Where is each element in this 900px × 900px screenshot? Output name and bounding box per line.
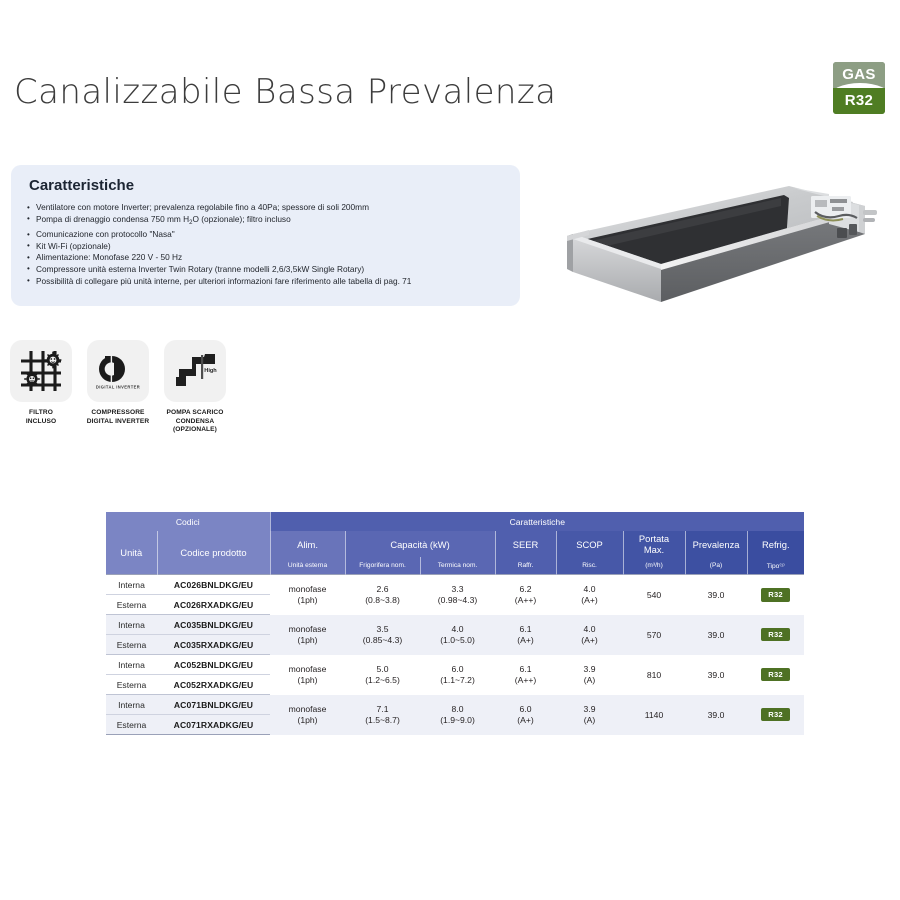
- th-refrig-sub: Tipo⁽¹⁾: [747, 557, 804, 575]
- th-group-codici: Codici: [106, 512, 270, 531]
- svg-text:DIGITAL INVERTER: DIGITAL INVERTER: [96, 385, 140, 390]
- cell-unita-esterna: Esterna: [106, 595, 157, 615]
- features-panel: Caratteristiche Ventilatore con motore I…: [11, 165, 520, 306]
- features-list: Ventilatore con motore Inverter; prevale…: [27, 202, 510, 287]
- cell-codice-interna: AC071BNLDKG/EU: [157, 695, 270, 715]
- h2o-subscript: 2: [189, 220, 192, 226]
- cell-unita-interna: Interna: [106, 695, 157, 715]
- cell-prevalenza: 39.0: [685, 575, 747, 615]
- filter-grid-icon: [10, 340, 72, 402]
- drain-pump-icon: High: [164, 340, 226, 402]
- cell-unita-interna: Interna: [106, 655, 157, 675]
- icon-caption-line: COMPRESSORE: [91, 409, 144, 416]
- feature-icon-pompa: High POMPA SCARICO CONDENSA (OPZIONALE): [164, 340, 232, 435]
- svg-text:High: High: [204, 368, 217, 374]
- gas-r32-badge: GAS R32: [833, 62, 885, 114]
- th-prevalenza-sub: (Pa): [685, 557, 747, 575]
- th-portata-sub: (m³/h): [623, 557, 685, 575]
- feature-icon-compressore: DIGITAL INVERTER COMPRESSORE DIGITAL INV…: [87, 340, 155, 426]
- icon-caption: COMPRESSORE DIGITAL INVERTER: [78, 409, 158, 426]
- cell-codice-esterna: AC052RXADKG/EU: [157, 675, 270, 695]
- th-alim-sub: Unità esterna: [270, 557, 345, 575]
- icon-tile: [10, 340, 72, 402]
- th-portata-line1: Portata: [639, 533, 669, 544]
- th-portata-line2: Max.: [644, 544, 664, 555]
- cell-alim: monofase (1ph): [270, 695, 345, 735]
- cell-frigorifera: 5.0 (1.2~6.5): [345, 655, 420, 695]
- th-unita: Unità: [106, 531, 157, 575]
- icon-caption: POMPA SCARICO CONDENSA (OPZIONALE): [155, 409, 235, 435]
- cell-codice-esterna: AC035RXADKG/EU: [157, 635, 270, 655]
- cell-unita-interna: Interna: [106, 575, 157, 595]
- cell-scop: 4.0 (A+): [556, 575, 623, 615]
- specifications-table: Codici Caratteristiche Unità Codice prod…: [106, 512, 804, 735]
- cell-unita-esterna: Esterna: [106, 715, 157, 735]
- page-title: Canalizzabile Bassa Prevalenza: [14, 72, 556, 112]
- th-capacita: Capacità (kW): [345, 531, 495, 557]
- feature-item: Possibilità di collegare più unità inter…: [27, 276, 510, 288]
- cell-seer: 6.1 (A++): [495, 655, 556, 695]
- cell-refrig: R32: [747, 695, 804, 735]
- cell-codice-interna: AC035BNLDKG/EU: [157, 615, 270, 635]
- table-header-group-row: Codici Caratteristiche: [106, 512, 804, 531]
- cell-frigorifera: 2.6 (0.8~3.8): [345, 575, 420, 615]
- th-codice-prodotto: Codice prodotto: [157, 531, 270, 575]
- cell-termica: 8.0 (1.9~9.0): [420, 695, 495, 735]
- th-scop: SCOP: [556, 531, 623, 557]
- digital-inverter-icon: DIGITAL INVERTER: [87, 340, 149, 402]
- icon-caption-line: INCLUSO: [26, 418, 56, 425]
- th-frigorifera-sub: Frigorifera nom.: [345, 557, 420, 575]
- icon-caption-line: DIGITAL INVERTER: [87, 418, 150, 425]
- th-scop-sub: Risc.: [556, 557, 623, 575]
- cell-alim: monofase (1ph): [270, 655, 345, 695]
- th-prevalenza: Prevalenza: [685, 531, 747, 557]
- cell-codice-interna: AC052BNLDKG/EU: [157, 655, 270, 675]
- cell-unita-interna: Interna: [106, 615, 157, 635]
- cell-codice-esterna: AC071RXADKG/EU: [157, 715, 270, 735]
- cell-prevalenza: 39.0: [685, 615, 747, 655]
- cell-codice-esterna: AC026RXADKG/EU: [157, 595, 270, 615]
- cell-seer: 6.0 (A+): [495, 695, 556, 735]
- cell-seer: 6.2 (A++): [495, 575, 556, 615]
- cell-unita-esterna: Esterna: [106, 675, 157, 695]
- cell-termica: 6.0 (1.1~7.2): [420, 655, 495, 695]
- icon-tile: DIGITAL INVERTER: [87, 340, 149, 402]
- cell-scop: 4.0 (A+): [556, 615, 623, 655]
- feature-icon-filtro: FILTRO INCLUSO: [10, 340, 78, 426]
- feature-item: Pompa di drenaggio condensa 750 mm H2O (…: [27, 214, 510, 230]
- cell-scop: 3.9 (A): [556, 655, 623, 695]
- ducted-unit-illustration: [553, 172, 887, 314]
- th-seer: SEER: [495, 531, 556, 557]
- cell-refrig: R32: [747, 615, 804, 655]
- status-badge-r32: R32: [761, 708, 790, 722]
- th-seer-sub: Raffr.: [495, 557, 556, 575]
- table-row: Interna AC035BNLDKG/EU monofase (1ph) 3.…: [106, 615, 804, 635]
- cell-prevalenza: 39.0: [685, 655, 747, 695]
- cell-portata: 810: [623, 655, 685, 695]
- cell-termica: 4.0 (1.0~5.0): [420, 615, 495, 655]
- icon-caption-line: (OPZIONALE): [173, 426, 217, 433]
- th-group-caratteristiche: Caratteristiche: [270, 512, 804, 531]
- product-photo: [553, 172, 887, 314]
- status-badge-r32: R32: [761, 668, 790, 682]
- table-row: Interna AC052BNLDKG/EU monofase (1ph) 5.…: [106, 655, 804, 675]
- cell-alim: monofase (1ph): [270, 575, 345, 615]
- cell-prevalenza: 39.0: [685, 695, 747, 735]
- feature-icons-row: FILTRO INCLUSO DIGITAL INVERTER COMPRESS…: [10, 340, 240, 440]
- status-badge-r32: R32: [761, 628, 790, 642]
- cell-frigorifera: 7.1 (1.5~8.7): [345, 695, 420, 735]
- cell-seer: 6.1 (A+): [495, 615, 556, 655]
- cell-portata: 570: [623, 615, 685, 655]
- cell-codice-interna: AC026BNLDKG/EU: [157, 575, 270, 595]
- th-refrig: Refrig.: [747, 531, 804, 557]
- features-heading: Caratteristiche: [29, 177, 134, 194]
- th-termica-sub: Termica nom.: [420, 557, 495, 575]
- icon-caption: FILTRO INCLUSO: [1, 409, 81, 426]
- icon-caption-line: POMPA SCARICO: [167, 409, 224, 416]
- icon-caption-line: FILTRO: [29, 409, 53, 416]
- feature-item: Comunicazione con protocollo "Nasa": [27, 229, 510, 241]
- table-row: Interna AC071BNLDKG/EU monofase (1ph) 7.…: [106, 695, 804, 715]
- icon-tile: High: [164, 340, 226, 402]
- th-portata-max: Portata Max.: [623, 531, 685, 557]
- status-badge-r32: R32: [761, 588, 790, 602]
- table-row: Interna AC026BNLDKG/EU monofase (1ph) 2.…: [106, 575, 804, 595]
- table-body: Interna AC026BNLDKG/EU monofase (1ph) 2.…: [106, 575, 804, 735]
- cell-refrig: R32: [747, 575, 804, 615]
- table-header-main-row: Unità Codice prodotto Alim. Capacità (kW…: [106, 531, 804, 557]
- cell-termica: 3.3 (0.98~4.3): [420, 575, 495, 615]
- germ-symbol: [45, 352, 62, 369]
- feature-item: Ventilatore con motore Inverter; prevale…: [27, 202, 510, 214]
- cell-refrig: R32: [747, 655, 804, 695]
- cell-portata: 540: [623, 575, 685, 615]
- feature-item: Kit Wi-Fi (opzionale): [27, 241, 510, 253]
- table-header: Codici Caratteristiche Unità Codice prod…: [106, 512, 804, 575]
- th-alim: Alim.: [270, 531, 345, 557]
- feature-item: Compressore unità esterna Inverter Twin …: [27, 264, 510, 276]
- cell-alim: monofase (1ph): [270, 615, 345, 655]
- cell-frigorifera: 3.5 (0.85~4.3): [345, 615, 420, 655]
- cell-unita-esterna: Esterna: [106, 635, 157, 655]
- r32-label: R32: [833, 88, 885, 114]
- cell-portata: 1140: [623, 695, 685, 735]
- icon-caption-line: CONDENSA: [176, 418, 215, 425]
- cell-scop: 3.9 (A): [556, 695, 623, 735]
- feature-item: Alimentazione: Monofase 220 V - 50 Hz: [27, 252, 510, 264]
